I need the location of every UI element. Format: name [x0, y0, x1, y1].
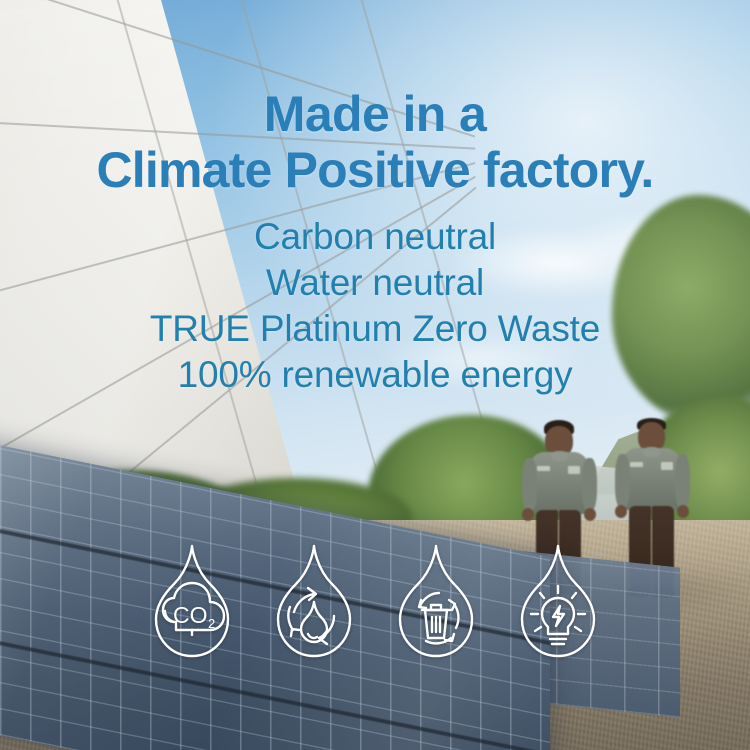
co2-cloud-droplet-icon: CO 2	[132, 538, 252, 668]
marketing-hero-banner: Made in a Climate Positive factory. Carb…	[0, 0, 750, 750]
sustainability-icon-row: CO 2	[0, 538, 750, 668]
claim-water-neutral: Water neutral	[0, 260, 750, 306]
headline-line-2: Climate Positive factory.	[0, 142, 750, 198]
waste-recycle-droplet-icon	[376, 538, 496, 668]
headline-line-1: Made in a	[264, 86, 486, 142]
claims-list: Carbon neutral Water neutral TRUE Platin…	[0, 214, 750, 398]
claim-renewable-energy: 100% renewable energy	[0, 352, 750, 398]
co2-label: CO	[173, 602, 208, 628]
claim-zero-waste: TRUE Platinum Zero Waste	[0, 306, 750, 352]
water-recycle-droplet-icon	[254, 538, 374, 668]
co2-subscript: 2	[208, 616, 215, 631]
renewable-energy-bulb-droplet-icon	[498, 538, 618, 668]
headline: Made in a Climate Positive factory.	[0, 86, 750, 198]
claim-carbon-neutral: Carbon neutral	[0, 214, 750, 260]
